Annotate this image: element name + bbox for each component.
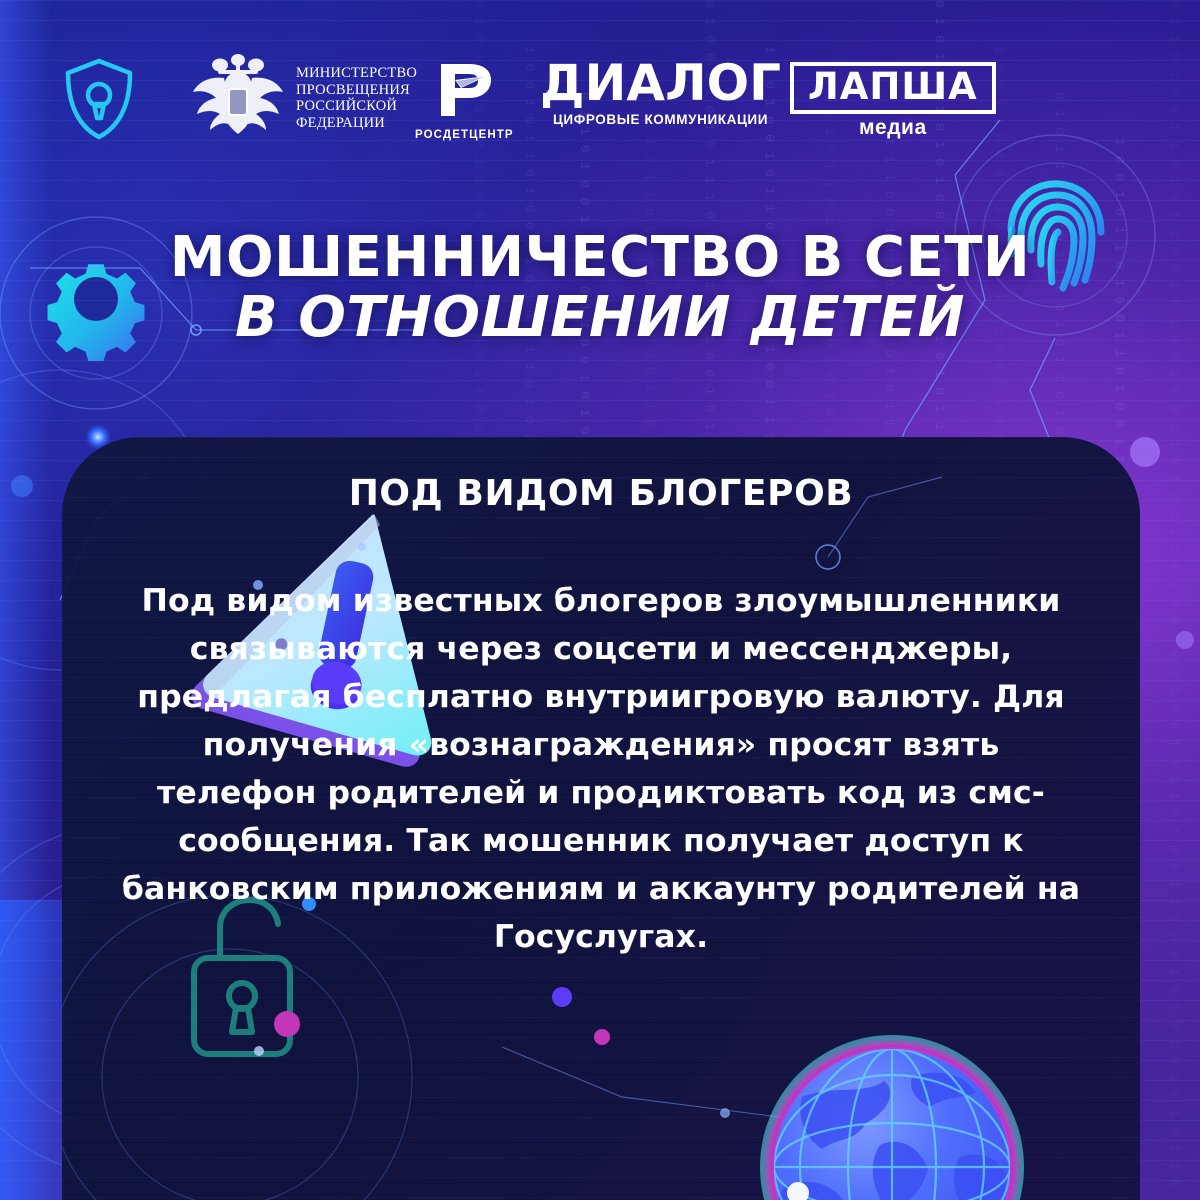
page-title: МОШЕННИЧЕСТВО В СЕТИ В ОТНОШЕНИИ ДЕТЕЙ <box>0 228 1200 348</box>
rosdetcentr-mark <box>425 58 503 122</box>
ministry-logo: МИНИСТЕРСТВО ПРОСВЕЩЕНИЯ РОССИЙСКОЙ ФЕДЕ… <box>190 48 417 144</box>
logo-bar: МИНИСТЕРСТВО ПРОСВЕЩЕНИЯ РОССИЙСКОЙ ФЕДЕ… <box>0 48 1200 148</box>
page-title-line-1: МОШЕННИЧЕСТВО В СЕТИ <box>0 228 1200 288</box>
card-heading: ПОД ВИДОМ БЛОГЕРОВ <box>62 473 1140 514</box>
lapsha-box: ЛАПША <box>790 62 996 114</box>
dialog-subtitle: ЦИФРОВЫЕ КОММУНИКАЦИИ <box>540 112 781 127</box>
lapsha-logo: ЛАПША медиа <box>790 62 996 140</box>
rosdetcentr-logo: РОСДЕТЦЕНТР <box>415 58 514 141</box>
shield-keyhole-icon <box>62 56 136 147</box>
content-card: ПОД ВИДОМ БЛОГЕРОВ Под видом известных б… <box>62 437 1140 1200</box>
page-title-line-2: В ОТНОШЕНИИ ДЕТЕЙ <box>0 288 1200 348</box>
binary-column: 0 1 1 0 1 0 0 1 1 0 1 0 1 1 0 0 1 0 1 0 … <box>1165 0 1184 1200</box>
russian-coat-of-arms <box>190 48 286 144</box>
ministry-name: МИНИСТЕРСТВО ПРОСВЕЩЕНИЯ РОССИЙСКОЙ ФЕДЕ… <box>296 61 417 131</box>
poster-canvas: 0 1 0 1 1 0 1 0 0 1 1 0 0 1 0 1 1 0 1 0 … <box>0 0 1200 1200</box>
lapsha-wordmark: ЛАПША <box>808 68 978 106</box>
dialog-wordmark: ДИАЛОГ <box>540 58 781 108</box>
dialog-logo: ДИАЛОГ ЦИФРОВЫЕ КОММУНИКАЦИИ <box>540 58 781 127</box>
card-body-text: Под видом известных блогеров злоумышленн… <box>120 577 1082 961</box>
rosdetcentr-name: РОСДЕТЦЕНТР <box>415 129 514 141</box>
lapsha-subtitle: медиа <box>790 116 996 140</box>
